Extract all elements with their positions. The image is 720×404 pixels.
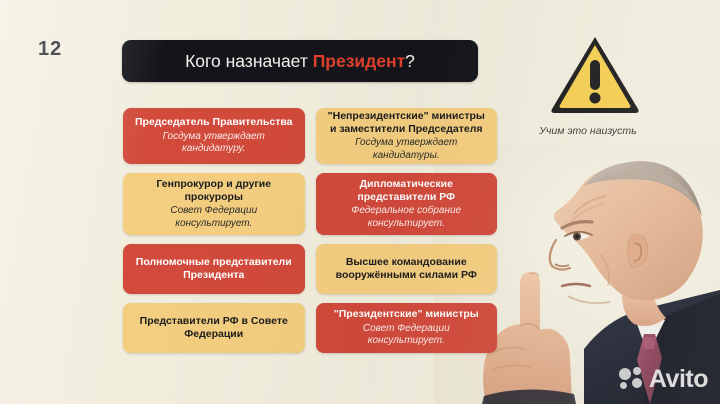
card-title: Дипломатические представители РФ	[325, 178, 489, 204]
warning-triangle-icon	[549, 32, 641, 116]
card-diplomatic-representatives: Дипломатические представители РФ Федерал…	[316, 173, 498, 235]
card-prosecutor-general: Генпрокурор и другие прокуроры Совет Фед…	[123, 173, 305, 235]
warning-callout: Учим это наизусть	[549, 32, 641, 137]
card-subtitle: Совет Федерации консультирует.	[325, 323, 489, 348]
card-title: Высшее командование вооружёнными силами …	[325, 256, 489, 282]
card-chairman-government: Председатель Правительства Госдума утвер…	[123, 108, 305, 164]
page-number: 12	[38, 38, 62, 61]
card-title: Генпрокурор и другие прокуроры	[132, 178, 296, 204]
card-row: Генпрокурор и другие прокуроры Совет Фед…	[123, 173, 497, 235]
card-row: Председатель Правительства Госдума утвер…	[123, 108, 497, 164]
card-nonpresidential-ministers: "Непрезидентские" министры и заместители…	[316, 108, 498, 164]
warning-caption: Учим это наизусть	[535, 125, 641, 137]
title-suffix: ?	[405, 51, 415, 71]
card-row: Представители РФ в Совете Федерации "Пре…	[123, 303, 497, 353]
card-presidential-ministers: "Президентские" министры Совет Федерации…	[316, 303, 498, 353]
card-title: "Президентские" министры	[334, 308, 479, 321]
card-title: Представители РФ в Совете Федерации	[132, 315, 296, 341]
card-title: Полномочные представители Президента	[132, 256, 296, 282]
card-title: Председатель Правительства	[135, 116, 293, 129]
title-accent-word: Президент	[313, 51, 405, 71]
card-subtitle: Федеральное собрание консультирует.	[325, 205, 489, 230]
card-representatives-federation-council: Представители РФ в Совете Федерации	[123, 303, 305, 353]
cards-grid: Председатель Правительства Госдума утвер…	[123, 108, 497, 362]
card-subtitle: Госдума утверждает кандидатуры.	[325, 137, 489, 162]
title-prefix: Кого назначает	[185, 51, 313, 71]
avito-watermark: Avito	[619, 367, 708, 392]
avito-brand-text: Avito	[649, 367, 708, 392]
card-high-command: Высшее командование вооружёнными силами …	[316, 244, 498, 294]
card-subtitle: Госдума утверждает кандидатуру.	[132, 131, 296, 156]
card-subtitle: Совет Федерации консультирует.	[132, 205, 296, 230]
slide-canvas: 12 Кого назначает Президент? Учим это на…	[0, 0, 720, 404]
card-row: Полномочные представители Президента Выс…	[123, 244, 497, 294]
card-title: "Непрезидентские" министры и заместители…	[325, 110, 489, 136]
page-title: Кого назначает Президент?	[185, 51, 415, 72]
card-plenipotentiary-representatives: Полномочные представители Президента	[123, 244, 305, 294]
avito-dots-logo	[619, 367, 644, 392]
slide-title-bar: Кого назначает Президент?	[122, 40, 478, 82]
